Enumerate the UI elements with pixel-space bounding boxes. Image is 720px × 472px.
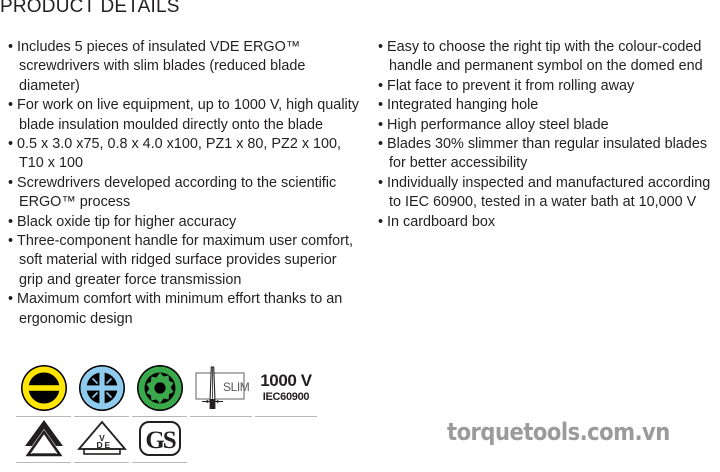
icon-cell-empty-2 xyxy=(255,417,317,463)
icon-cell-gs: GS xyxy=(132,417,187,463)
list-item: Integrated hanging hole xyxy=(378,96,720,115)
gs-safety-mark-icon: GS xyxy=(134,419,186,459)
slotted-tip-icon xyxy=(20,364,68,412)
list-item: Black oxide tip for higher accuracy xyxy=(8,213,363,232)
list-item: Three-component handle for maximum user … xyxy=(8,232,363,290)
site-watermark: torquetools.com.vn xyxy=(447,418,670,446)
voltage-standard-label: IEC60900 xyxy=(260,392,311,403)
list-item: Blades 30% slimmer than regular insulate… xyxy=(378,135,720,174)
icon-cell-torx xyxy=(132,362,187,417)
svg-text:D: D xyxy=(96,440,102,450)
pozidriv-tip-icon xyxy=(78,364,126,412)
icon-cell-insulated xyxy=(16,417,71,463)
feature-list-right: Easy to choose the right tip with the co… xyxy=(378,38,720,232)
list-item: For work on live equipment, up to 1000 V… xyxy=(8,96,363,135)
icon-cell-pozidriv xyxy=(74,362,129,417)
vde-approval-icon: V D E xyxy=(76,419,128,459)
feature-list-left: Includes 5 pieces of insulated VDE ERGO™… xyxy=(8,38,363,329)
svg-text:SLIM: SLIM xyxy=(223,380,250,394)
certification-icon-grid: SLIM 1000 V IEC60900 V xyxy=(16,362,326,463)
icon-row-approvals: V D E GS xyxy=(16,417,326,463)
icon-cell-slim: SLIM xyxy=(190,362,252,417)
feature-column-left: Includes 5 pieces of insulated VDE ERGO™… xyxy=(8,38,363,329)
insulated-1000v-double-triangle-icon xyxy=(22,419,66,459)
icon-cell-slotted xyxy=(16,362,71,417)
page-title: PRODUCT DETAILS xyxy=(0,0,180,19)
voltage-rating-label: 1000 V xyxy=(260,372,311,389)
list-item: Includes 5 pieces of insulated VDE ERGO™… xyxy=(8,38,363,96)
list-item: In cardboard box xyxy=(378,213,720,232)
list-item: 0.5 x 3.0 x75, 0.8 x 4.0 x100, PZ1 x 80,… xyxy=(8,135,363,174)
torx-tip-icon xyxy=(136,364,184,412)
slim-blade-icon: SLIM xyxy=(192,363,250,413)
list-item: Easy to choose the right tip with the co… xyxy=(378,38,720,77)
feature-column-right: Easy to choose the right tip with the co… xyxy=(378,38,720,232)
svg-text:GS: GS xyxy=(145,427,175,454)
list-item: High performance alloy steel blade xyxy=(378,116,720,135)
icon-cell-voltage: 1000 V IEC60900 xyxy=(255,362,317,417)
list-item: Screwdrivers developed according to the … xyxy=(8,174,363,213)
svg-text:E: E xyxy=(104,440,110,450)
list-item: Flat face to prevent it from rolling awa… xyxy=(378,77,720,96)
icon-cell-vde: V D E xyxy=(74,417,129,463)
list-item: Maximum comfort with minimum effort than… xyxy=(8,290,363,329)
icon-row-tips: SLIM 1000 V IEC60900 xyxy=(16,362,326,417)
list-item: Individually inspected and manufactured … xyxy=(378,174,720,213)
icon-cell-empty-1 xyxy=(190,417,252,463)
